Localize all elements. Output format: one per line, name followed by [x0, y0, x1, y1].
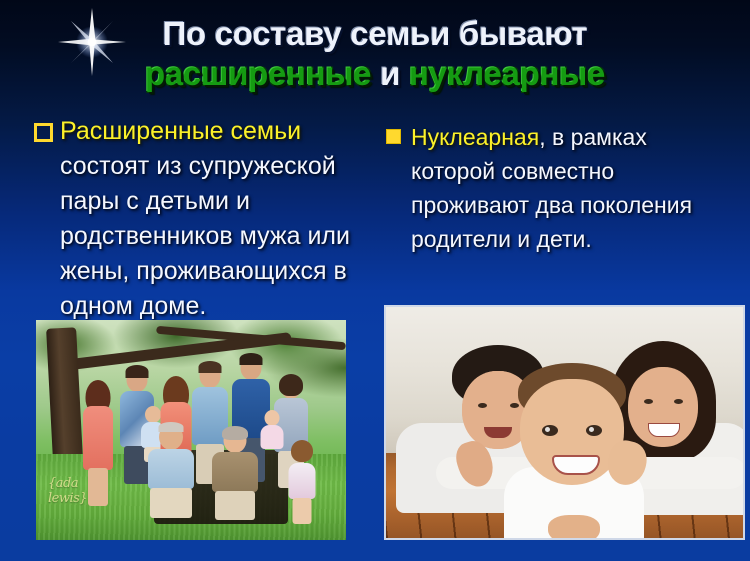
- right-paragraph: Нуклеарная, в рамках которой совместно п…: [386, 120, 706, 256]
- left-content-column: Расширенные семьи состоят из супружеской…: [34, 114, 374, 324]
- baby-figure: [498, 363, 648, 540]
- family-member-seated: [212, 428, 258, 520]
- left-paragraph: Расширенные семьи состоят из супружеской…: [34, 114, 374, 324]
- title-conjunction: [371, 55, 380, 92]
- family-member-baby: [260, 410, 284, 458]
- nuclear-family-bullet-block: Нуклеарная, в рамках которой совместно п…: [386, 120, 706, 256]
- photo-watermark: {ada lewis}: [48, 476, 120, 496]
- filled-square-bullet-icon: [386, 129, 401, 144]
- left-heading-text: Расширенные семьи: [60, 117, 301, 145]
- right-content-column: Нуклеарная, в рамках которой совместно п…: [386, 120, 706, 256]
- family-member-seated: [148, 424, 194, 518]
- right-heading-text: Нуклеарная: [411, 124, 539, 150]
- title-word-nuclear: нуклеарные: [409, 55, 605, 92]
- left-body-text: состоят из супружеской пары с детьми и р…: [60, 152, 350, 320]
- nuclear-family-photo: [384, 305, 745, 540]
- hollow-square-bullet-icon: [34, 123, 53, 142]
- title-line-2: расширенные и нуклеарные: [0, 54, 750, 94]
- slide-title: По составу семьи бывают расширенные и ну…: [0, 14, 750, 94]
- presentation-slide: По составу семьи бывают расширенные и ну…: [0, 0, 750, 561]
- extended-family-photo: {ada lewis}: [36, 320, 346, 540]
- title-word-and: и: [380, 55, 400, 92]
- extended-family-bullet-block: Расширенные семьи состоят из супружеской…: [34, 114, 374, 324]
- title-word-extended: расширенные: [145, 55, 371, 92]
- family-member-child: [288, 442, 316, 524]
- title-line-1: По составу семьи бывают: [0, 14, 750, 54]
